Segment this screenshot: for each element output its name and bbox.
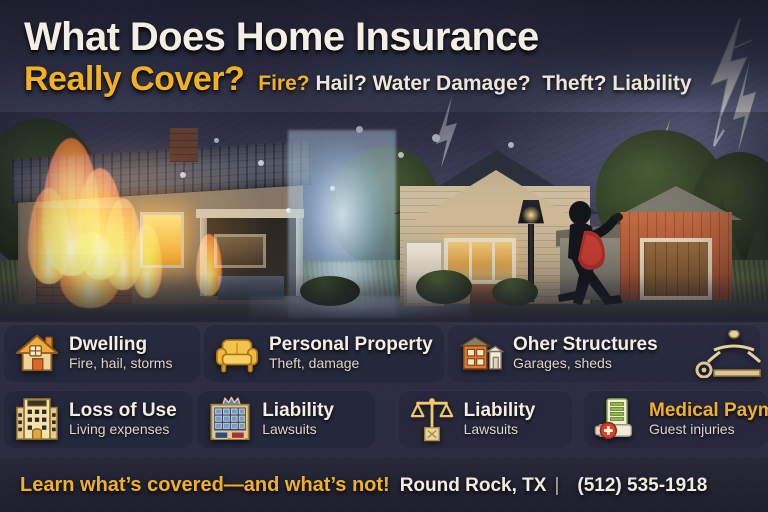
peril-theft: Theft? bbox=[542, 72, 606, 95]
coverage-card-personal-property[interactable]: Personal Property Theft, damage bbox=[204, 324, 444, 382]
barn-shed-icon bbox=[458, 330, 504, 376]
armchair-icon bbox=[214, 330, 260, 376]
footer-content: Learn what’s covered—and what’s not! Rou… bbox=[0, 474, 707, 497]
coverage-section: Dwelling Fire, hail, storms bbox=[0, 318, 768, 458]
peril-hail: Hail? bbox=[315, 72, 366, 95]
coverage-title: Medical Payments bbox=[649, 401, 768, 422]
scales-of-justice-icon bbox=[409, 396, 455, 442]
coverage-subtitle: Fire, hail, storms bbox=[69, 356, 172, 371]
perils-list: Fire? Hail? Water Damage? Theft? Liabili… bbox=[258, 73, 691, 95]
house-icon bbox=[14, 330, 60, 376]
coverage-subtitle: Garages, sheds bbox=[513, 356, 658, 371]
coverage-title: Liability bbox=[262, 401, 334, 422]
coverage-title: Loss of Use bbox=[69, 401, 177, 422]
coverage-title: Oher Structures bbox=[513, 335, 658, 356]
footer-band: Learn what’s covered—and what’s not! Rou… bbox=[0, 458, 768, 512]
coverage-card-loss-of-use[interactable]: Loss of Use Living expenses bbox=[4, 390, 193, 448]
coverage-title: Personal Property bbox=[269, 335, 433, 356]
office-building-icon bbox=[207, 396, 253, 442]
footer-separator: | bbox=[554, 475, 559, 497]
coverage-subtitle: Living expenses bbox=[69, 422, 177, 437]
subtitle-row: Really Cover? Fire? Hail? Water Damage? … bbox=[24, 62, 754, 98]
title-block: What Does Home Insurance Really Cover? F… bbox=[24, 16, 754, 98]
footer-cta: Learn what’s covered—and what’s not! bbox=[20, 474, 390, 497]
coverage-card-liability-scales[interactable]: Liability Lawsuits bbox=[399, 390, 572, 448]
coverage-card-dwelling[interactable]: Dwelling Fire, hail, storms bbox=[4, 324, 200, 382]
coverage-subtitle: Lawsuits bbox=[262, 422, 334, 437]
coverage-subtitle: Lawsuits bbox=[464, 422, 536, 437]
coverage-title: Dwelling bbox=[69, 335, 172, 356]
peril-liability: Liability bbox=[612, 72, 691, 95]
peril-fire: Fire? bbox=[258, 72, 309, 95]
hotel-building-icon bbox=[14, 396, 60, 442]
medical-clipboard-icon bbox=[594, 396, 640, 442]
coverage-subtitle: Theft, damage bbox=[269, 356, 433, 371]
infographic-poster: What Does Home Insurance Really Cover? F… bbox=[0, 0, 768, 512]
peril-water-damage: Water Damage? bbox=[373, 72, 531, 95]
scales-of-justice-icon bbox=[690, 330, 764, 378]
coverage-card-liability-building[interactable]: Liability Lawsuits bbox=[197, 390, 374, 448]
footer-phone[interactable]: (512) 535-1918 bbox=[577, 475, 707, 497]
coverage-card-medical-payments[interactable]: Medical Payments Guest injuries bbox=[584, 390, 768, 448]
house-damage-scene bbox=[0, 112, 768, 322]
title-highlight: Really Cover? bbox=[24, 62, 244, 98]
coverage-subtitle: Guest injuries bbox=[649, 422, 768, 437]
coverage-card-other-structures[interactable]: Oher Structures Garages, sheds bbox=[448, 324, 760, 382]
page-title: What Does Home Insurance bbox=[24, 16, 754, 58]
coverage-row-1: Dwelling Fire, hail, storms bbox=[0, 324, 768, 386]
header-band: What Does Home Insurance Really Cover? F… bbox=[0, 0, 768, 112]
coverage-title: Liability bbox=[464, 401, 536, 422]
coverage-row-2: Loss of Use Living expenses bbox=[0, 390, 768, 452]
scene-bottom-fade bbox=[0, 274, 768, 322]
footer-location: Round Rock, TX bbox=[400, 475, 547, 497]
